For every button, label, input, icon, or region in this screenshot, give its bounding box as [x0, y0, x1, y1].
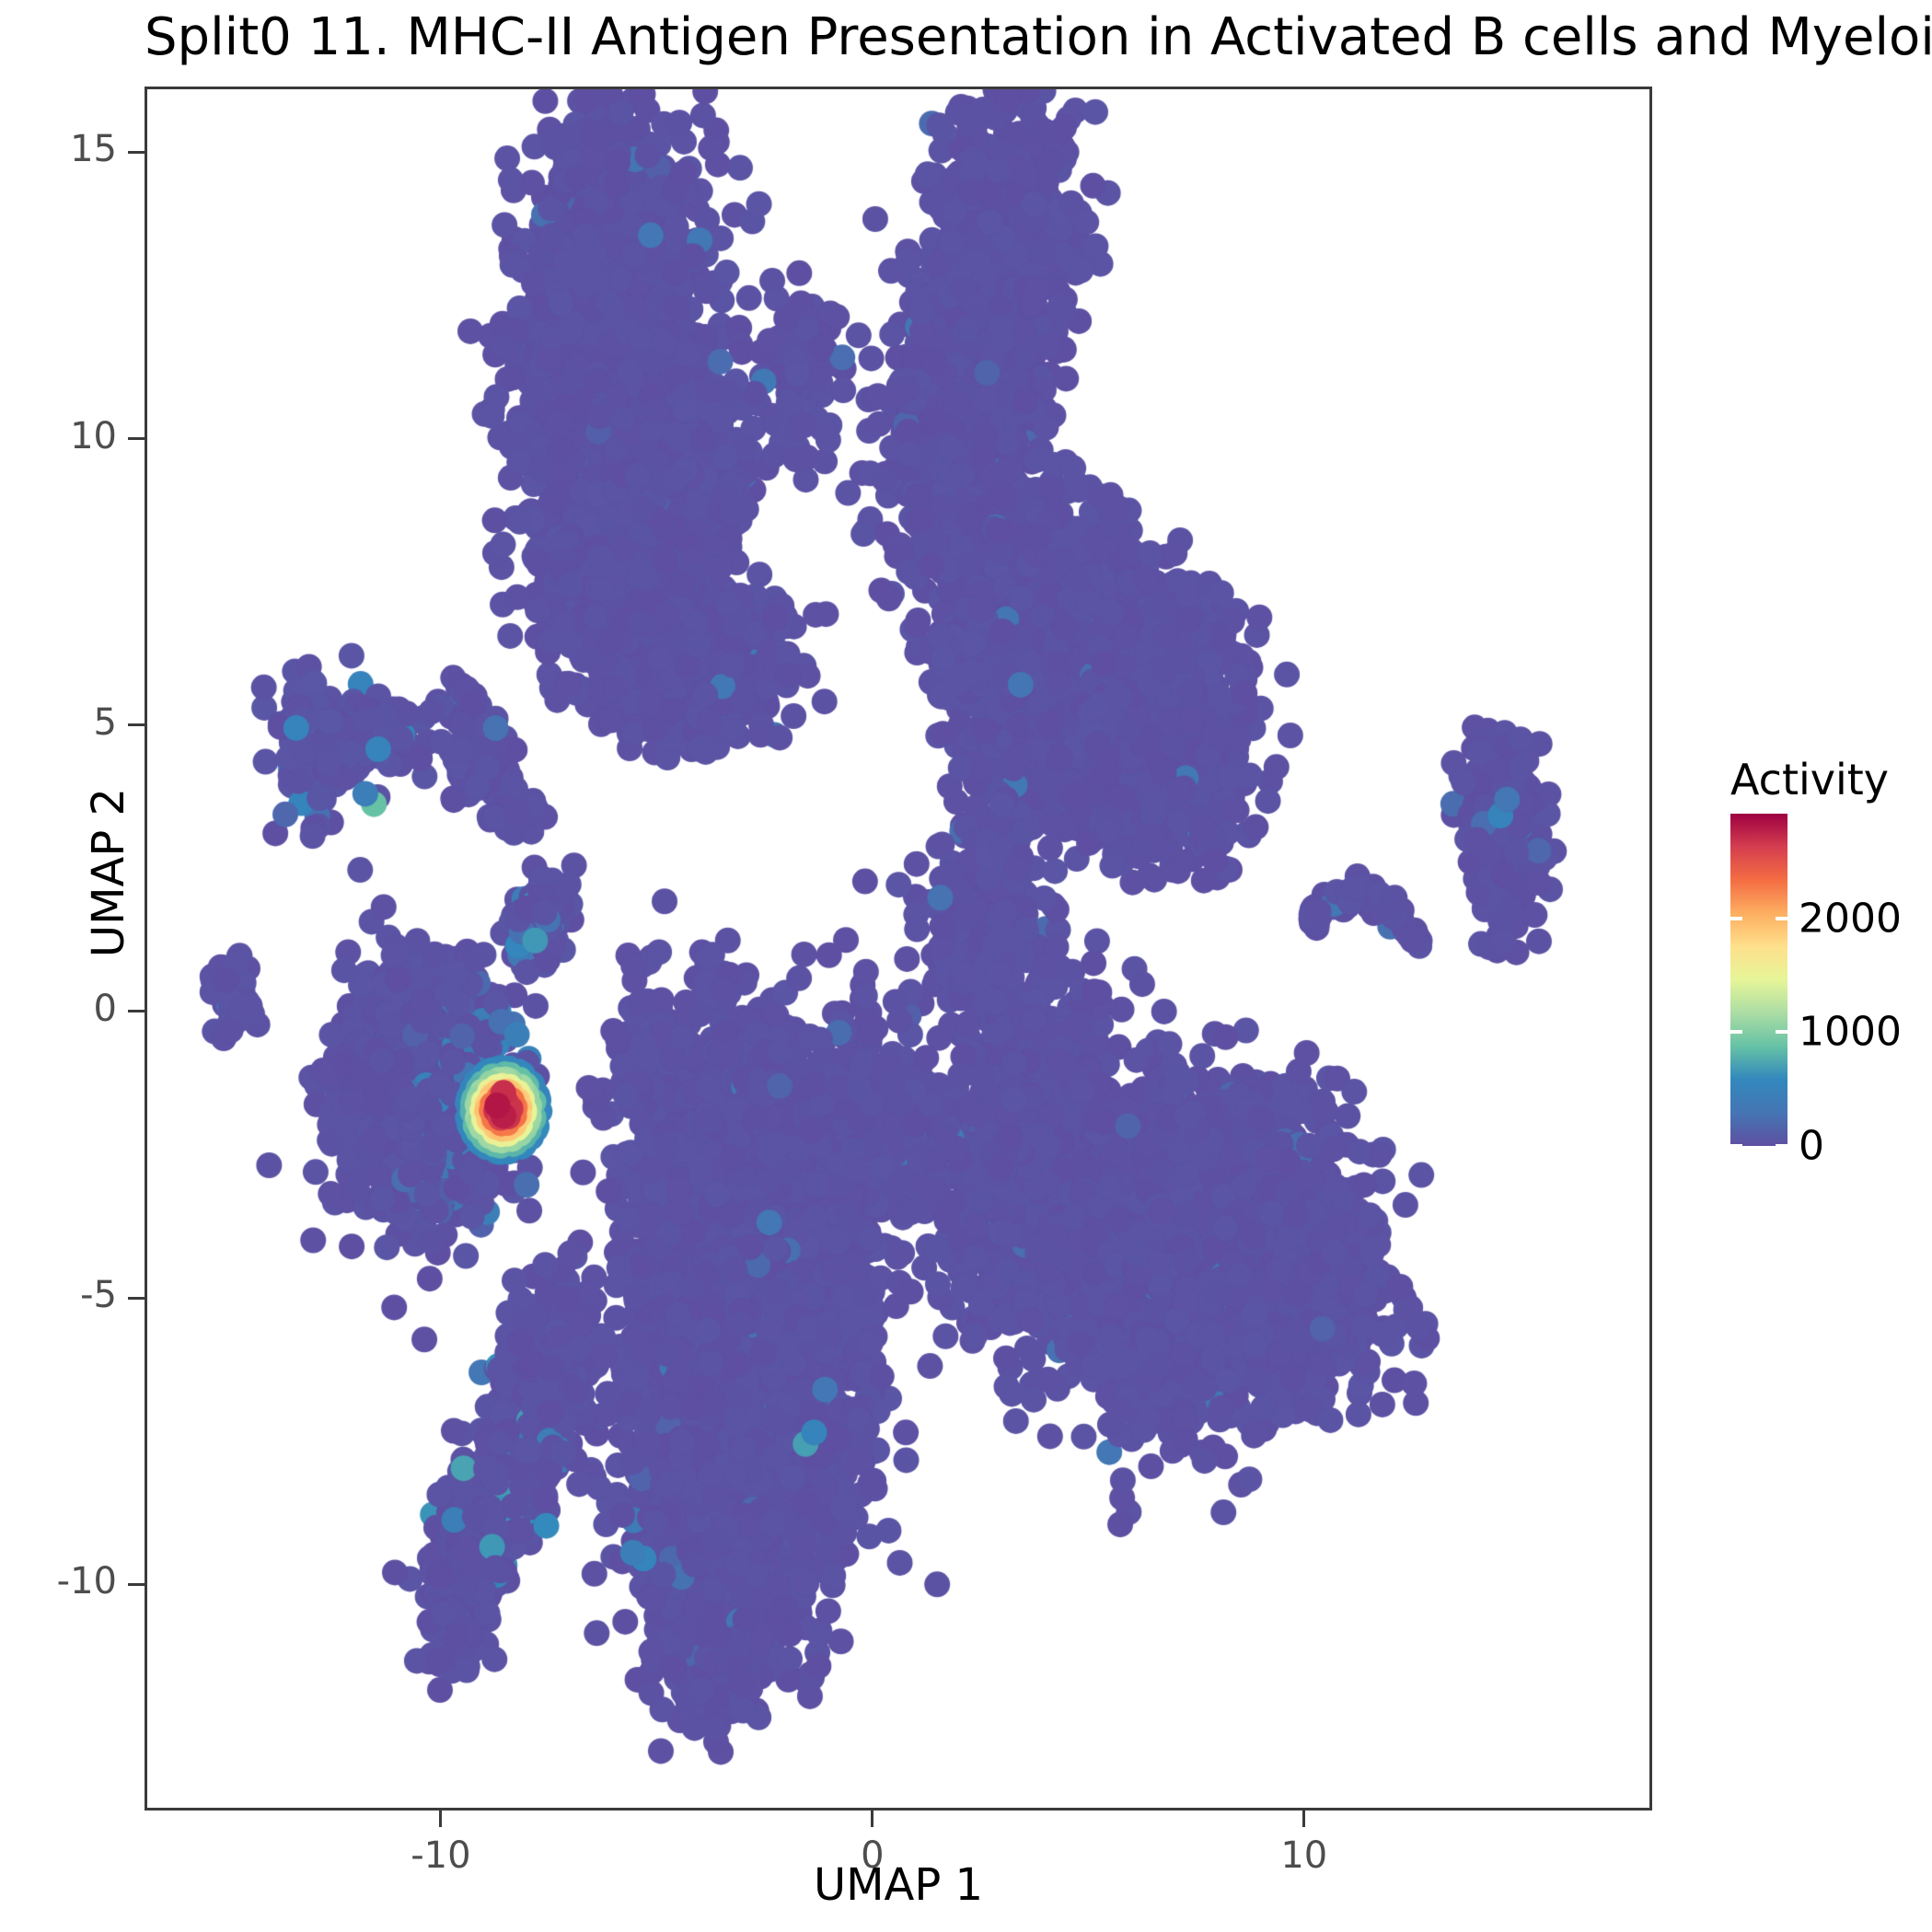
- colorbar-tick-label: 1000: [1799, 1009, 1902, 1056]
- y-tick-mark: [128, 1297, 145, 1300]
- x-tick-label: 10: [1212, 1834, 1396, 1877]
- plot-area: [145, 87, 1652, 1811]
- colorbar-tick-mark: [1730, 1144, 1742, 1148]
- y-tick-mark: [128, 437, 145, 440]
- chart-title: Split0 11. MHC-II Antigen Presentation i…: [145, 4, 1932, 72]
- colorbar-tick-mark: [1776, 1030, 1787, 1034]
- legend-title: Activity: [1730, 755, 1889, 804]
- colorbar-tick-mark: [1730, 1030, 1742, 1034]
- y-tick-label: 15: [0, 128, 117, 170]
- colorbar-gradient-fill: [1730, 814, 1787, 1146]
- y-tick-label: 0: [0, 988, 117, 1030]
- colorbar-tick-mark: [1776, 917, 1787, 920]
- y-tick-label: 5: [0, 701, 117, 744]
- x-tick-label: -10: [349, 1834, 533, 1877]
- colorbar-tick-mark: [1776, 1144, 1787, 1148]
- y-tick-mark: [128, 723, 145, 726]
- colorbar-tick-label: 2000: [1799, 895, 1902, 942]
- y-axis-label: UMAP 2: [83, 725, 134, 1020]
- x-tick-label: 0: [781, 1834, 965, 1877]
- y-tick-label: -10: [0, 1560, 117, 1602]
- x-tick-mark: [1302, 1811, 1305, 1827]
- legend-colorbar: Activity 010002000: [1729, 755, 1932, 1187]
- y-tick-mark: [128, 151, 145, 154]
- x-tick-mark: [439, 1811, 442, 1827]
- colorbar-tick-mark: [1730, 917, 1742, 920]
- y-tick-label: 10: [0, 415, 117, 457]
- y-tick-mark: [128, 1010, 145, 1012]
- y-tick-label: -5: [0, 1274, 117, 1316]
- y-tick-mark: [128, 1583, 145, 1586]
- x-tick-mark: [871, 1811, 873, 1827]
- colorbar-tick-label: 0: [1799, 1123, 1824, 1170]
- scatter-points-layer: [147, 89, 1649, 1808]
- figure-canvas: Split0 11. MHC-II Antigen Presentation i…: [0, 0, 1932, 1932]
- colorbar-gradient[interactable]: [1730, 814, 1787, 1146]
